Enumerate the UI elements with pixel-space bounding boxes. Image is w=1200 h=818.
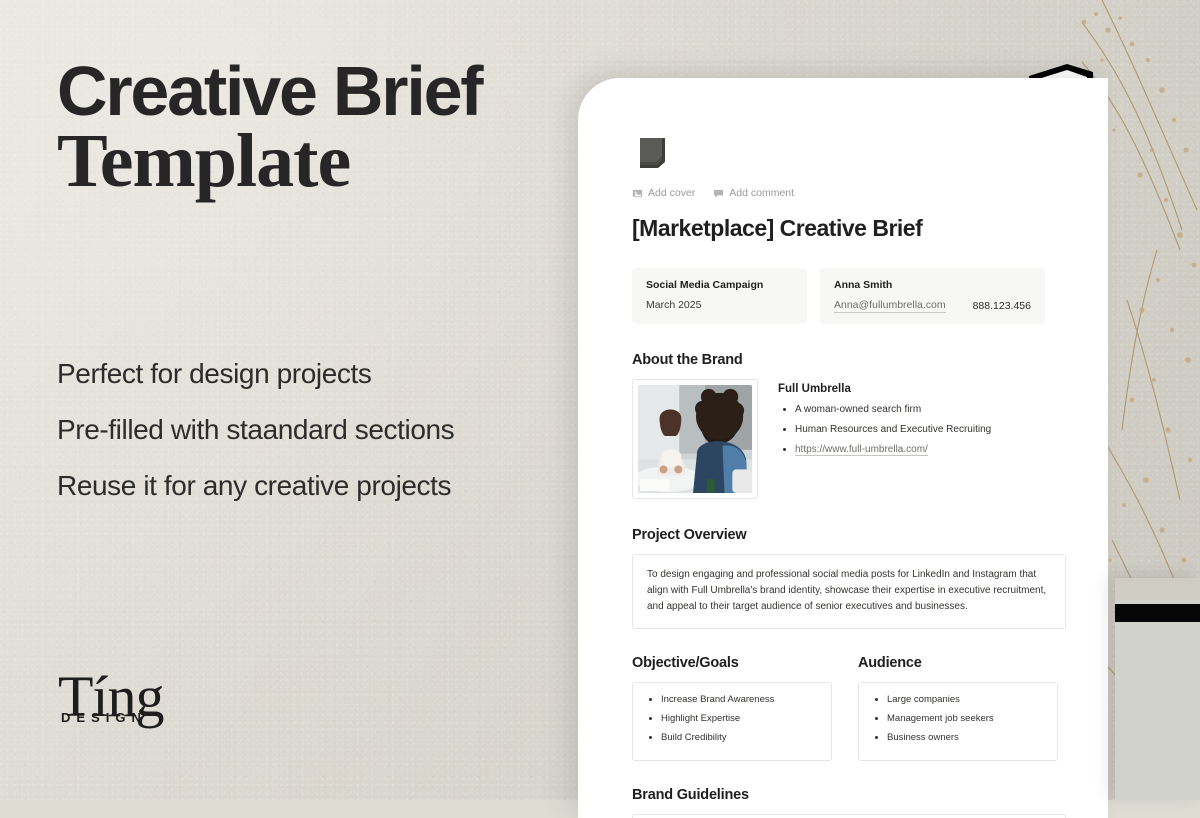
tagline-list: Perfect for design projects Pre-filled w… [57,358,617,527]
objective-item-1: Increase Brand Awareness [661,694,825,705]
section-heading-about: About the Brand [632,352,1066,368]
brand-photo-frame [632,379,758,499]
project-overview-text: To design engaging and professional soci… [647,567,1051,616]
poster-heading-block: Creative Brief Template [57,58,557,199]
tagline-1: Perfect for design projects [57,358,617,390]
brand-guidelines-box[interactable] [632,814,1066,818]
section-heading-brand-guidelines: Brand Guidelines [632,787,1066,803]
page-title[interactable]: [Marketplace] Creative Brief [632,215,1066,242]
image-icon [632,188,643,199]
project-overview-box[interactable]: To design engaging and professional soci… [632,554,1066,629]
contact-email[interactable]: Anna@fullumbrella.com [834,299,946,313]
second-card-top [1115,578,1200,600]
add-cover-label: Add cover [648,187,695,199]
notebook-icon[interactable] [632,131,672,171]
objectives-box[interactable]: Increase Brand Awareness Highlight Exper… [632,682,832,761]
brand-website-item: https://www.full-umbrella.com/ [795,443,991,456]
objectives-audience-row: Objective/Goals Increase Brand Awareness… [632,655,1066,761]
audience-item-3: Business owners [887,732,1051,743]
brand-bullet-2: Human Resources and Executive Recruiting [795,423,991,436]
section-heading-overview: Project Overview [632,527,1066,543]
poster-title-line1: Creative Brief [57,58,557,125]
add-comment-label: Add comment [729,187,794,199]
audience-column: Audience Large companies Management job … [858,655,1058,761]
objective-item-2: Highlight Expertise [661,713,825,724]
second-card-black-bar [1115,604,1200,622]
audience-item-1: Large companies [887,694,1051,705]
tagline-2: Pre-filled with staandard sections [57,414,617,446]
brand-bullet-1: A woman-owned search firm [795,403,991,416]
brand-website-link[interactable]: https://www.full-umbrella.com/ [795,444,928,456]
objective-item-3: Build Credibility [661,732,825,743]
brand-bullet-list: A woman-owned search firm Human Resource… [778,403,991,456]
brand-logo: Tíng DESIGN [58,668,164,725]
campaign-name: Social Media Campaign [646,279,793,291]
poster-title-line2: Template [57,123,557,199]
second-page-card [1115,578,1200,800]
audience-box[interactable]: Large companies Management job seekers B… [858,682,1058,761]
campaign-date: March 2025 [646,299,793,311]
campaign-info-card[interactable]: Social Media Campaign March 2025 [632,268,807,324]
interview-photo [638,385,752,493]
contact-info-card[interactable]: Anna Smith Anna@fullumbrella.com 888.123… [820,268,1045,324]
contact-name: Anna Smith [834,279,1031,291]
about-brand-row: Full Umbrella A woman-owned search firm … [632,379,1066,499]
objectives-column: Objective/Goals Increase Brand Awareness… [632,655,832,761]
info-cards-row: Social Media Campaign March 2025 Anna Sm… [632,268,1066,324]
add-comment-button[interactable]: Add comment [713,187,794,199]
contact-phone: 888.123.456 [973,300,1031,312]
section-heading-objectives: Objective/Goals [632,655,832,671]
tagline-3: Reuse it for any creative projects [57,470,617,502]
brand-name: Full Umbrella [778,383,991,395]
section-heading-audience: Audience [858,655,1058,671]
notion-page-card: Add cover Add comment [Marketplace] Crea… [578,78,1108,818]
comment-icon [713,188,724,199]
page-meta-actions: Add cover Add comment [632,187,1066,199]
audience-item-2: Management job seekers [887,713,1051,724]
add-cover-button[interactable]: Add cover [632,187,695,199]
